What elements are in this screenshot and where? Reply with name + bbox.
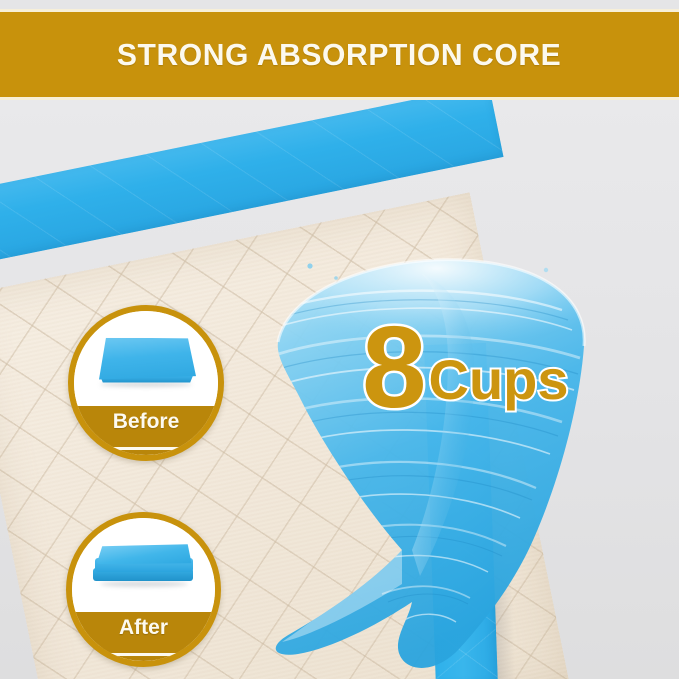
capacity-unit: Cups — [429, 352, 569, 408]
product-feature-image: STRONG ABSORPTION CORE — [0, 0, 679, 679]
badge-after-label: After — [119, 616, 168, 640]
badge-before-caption: Before — [74, 406, 218, 455]
badge-after-caption: After — [72, 612, 215, 661]
banner-body: STRONG ABSORPTION CORE — [0, 12, 679, 97]
capacity-number: 8 — [362, 318, 427, 418]
folded-blue-pad-icon — [90, 536, 198, 594]
badge-after-photo — [72, 518, 215, 612]
folded-pad-shadow — [100, 581, 188, 587]
absorption-capacity-callout: 8 Cups — [362, 318, 569, 418]
header-banner: STRONG ABSORPTION CORE — [0, 9, 679, 100]
badge-before-photo — [74, 311, 218, 406]
badge-after: After — [66, 512, 221, 667]
flat-blue-pad-icon — [92, 332, 200, 386]
banner-title: STRONG ABSORPTION CORE — [117, 37, 561, 73]
badge-before-label: Before — [113, 410, 180, 434]
product-photo: 8 Cups Before — [0, 100, 679, 679]
folded-pad-layer-top — [97, 544, 192, 564]
flat-pad-sheet — [96, 338, 196, 380]
badge-before: Before — [68, 305, 224, 461]
